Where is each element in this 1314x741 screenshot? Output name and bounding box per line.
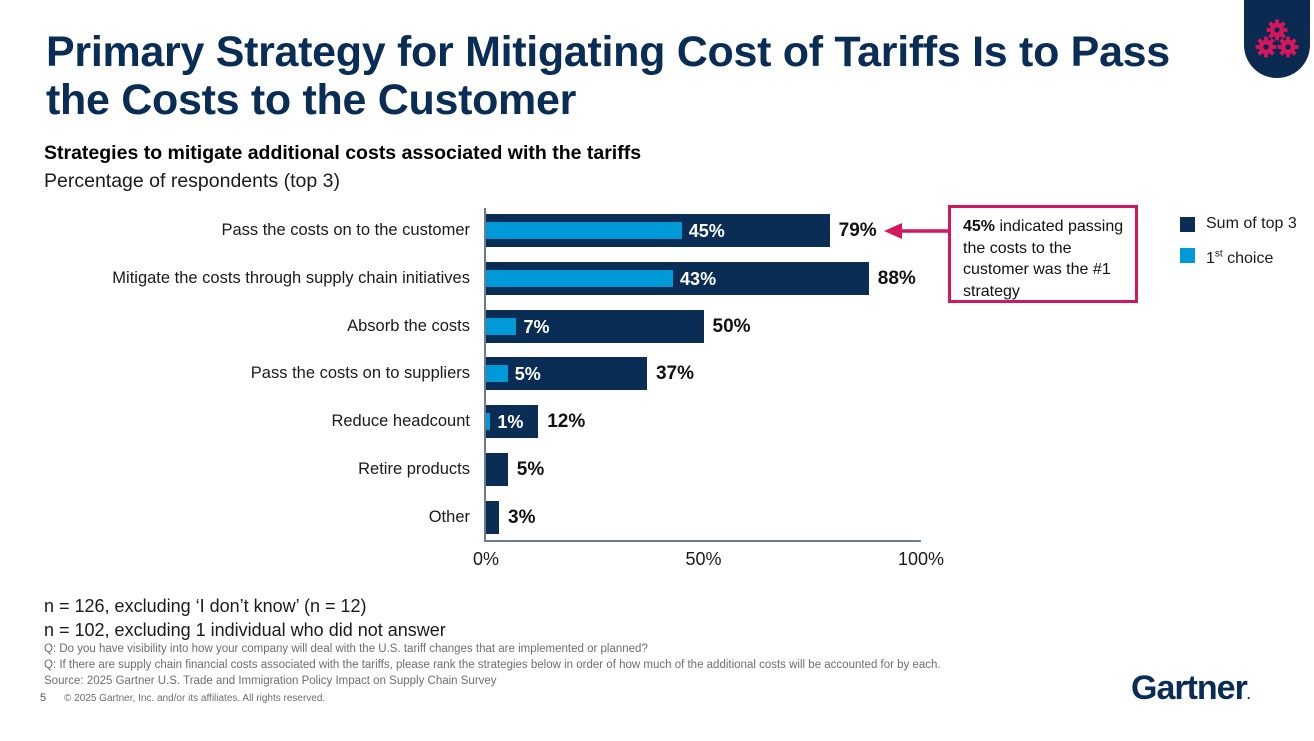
- bar-value-label-first-choice: 43%: [680, 269, 716, 290]
- bar-sum-of-top-3: [486, 310, 704, 343]
- callout-highlight: 45%: [963, 218, 995, 235]
- bar-first-choice: [486, 222, 682, 239]
- x-axis-tick-label: 100%: [898, 549, 944, 570]
- category-label: Other: [60, 508, 470, 527]
- callout-arrow-icon: [884, 222, 948, 240]
- bar-value-label-sum-of-top-3: 12%: [547, 411, 585, 433]
- bar-value-label-first-choice: 1%: [497, 412, 523, 433]
- gartner-logo: Gartner.: [1131, 669, 1249, 708]
- note-line-1: n = 126, excluding ‘I don’t know’ (n = 1…: [44, 596, 367, 617]
- bar-sum-of-top-3: [486, 453, 508, 486]
- page-number: 5: [40, 692, 46, 704]
- legend-item-first-choice: 1st choice: [1180, 245, 1297, 268]
- bar-value-label-sum-of-top-3: 5%: [517, 459, 544, 481]
- source-question-1: Q: Do you have visibility into how your …: [44, 643, 648, 655]
- legend-swatch-navy: [1180, 217, 1195, 232]
- category-label: Reduce headcount: [60, 412, 470, 431]
- category-label: Mitigate the costs through supply chain …: [60, 269, 470, 288]
- copyright-notice: © 2025 Gartner, Inc. and/or its affiliat…: [64, 693, 325, 704]
- bar-value-label-sum-of-top-3: 88%: [878, 268, 916, 290]
- x-axis-tick-label: 0%: [473, 549, 499, 570]
- source-question-2: Q: If there are supply chain financial c…: [44, 659, 941, 671]
- note-line-2: n = 102, excluding 1 individual who did …: [44, 620, 446, 641]
- bar-sum-of-top-3: [486, 357, 647, 390]
- legend-item-sum-of-top-3: Sum of top 3: [1180, 214, 1297, 233]
- bar-first-choice: [486, 270, 673, 287]
- legend-ordinal-suffix: st: [1215, 249, 1223, 260]
- bar-first-choice: [486, 365, 508, 382]
- category-label: Pass the costs on to the customer: [60, 221, 470, 240]
- bar-value-label-sum-of-top-3: 79%: [839, 220, 877, 242]
- callout-box: 45% indicated passing the costs to the c…: [948, 205, 1138, 303]
- bar-value-label-first-choice: 5%: [515, 364, 541, 385]
- bar-value-label-sum-of-top-3: 3%: [508, 507, 535, 529]
- bar-value-label-sum-of-top-3: 50%: [713, 316, 751, 338]
- bar-first-choice: [486, 413, 490, 430]
- chart-legend: Sum of top 3 1st choice: [1180, 214, 1297, 280]
- x-axis-line: [484, 540, 921, 542]
- x-axis-tick-label: 50%: [685, 549, 721, 570]
- source-citation: Source: 2025 Gartner U.S. Trade and Immi…: [44, 675, 497, 687]
- category-label: Pass the costs on to suppliers: [60, 364, 470, 383]
- legend-swatch-light-blue: [1180, 248, 1195, 263]
- bar-value-label-first-choice: 45%: [689, 221, 725, 242]
- legend-label-first-choice: 1st choice: [1206, 250, 1273, 267]
- category-label: Absorb the costs: [60, 317, 470, 336]
- category-label: Retire products: [60, 460, 470, 479]
- bar-value-label-sum-of-top-3: 37%: [656, 363, 694, 385]
- bar-value-label-first-choice: 7%: [523, 317, 549, 338]
- logo-registered-mark: .: [1247, 687, 1250, 702]
- legend-label-sum-of-top-3: Sum of top 3: [1206, 215, 1297, 232]
- bar-sum-of-top-3: [486, 501, 499, 534]
- bar-first-choice: [486, 318, 516, 335]
